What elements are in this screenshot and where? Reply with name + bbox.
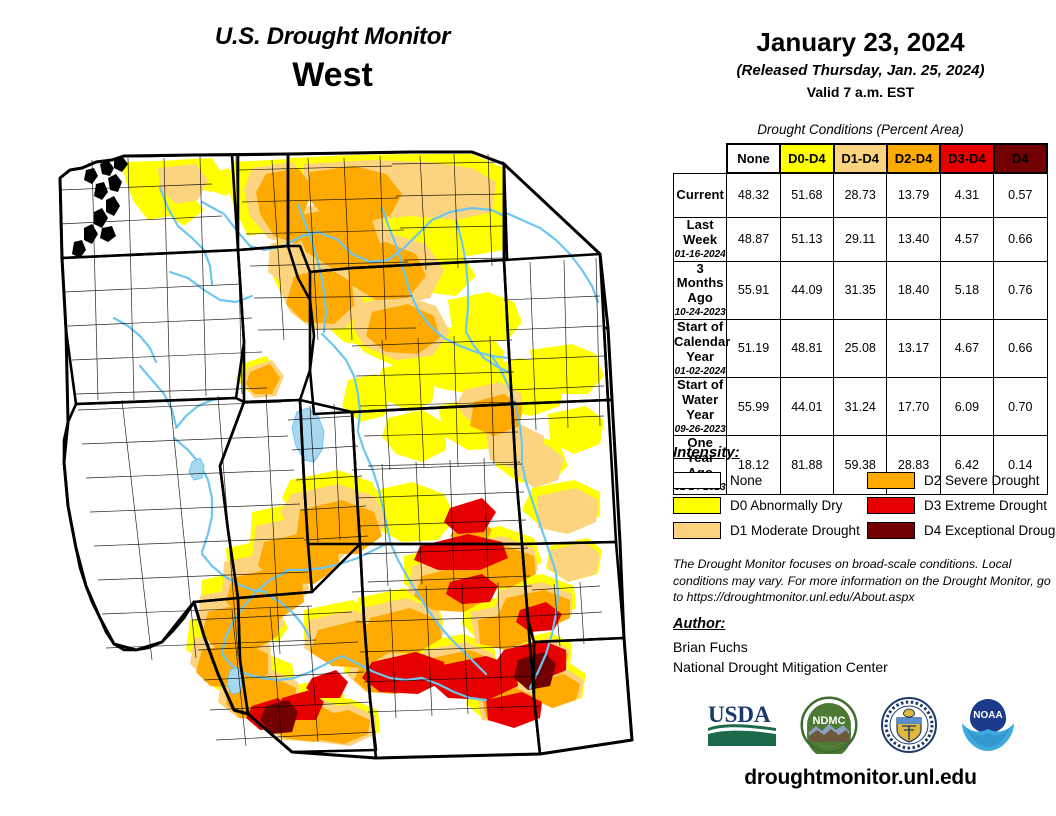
author-org: National Drought Mitigation Center [673,657,1053,677]
table-row: Start ofWater Year 09-26-2023 55.99 44.0… [674,378,1048,436]
table-header: None D0-D4 D1-D4 D2-D4 D3-D4 D4 [674,144,1048,173]
disclaimer-text: The Drought Monitor focuses on broad-sca… [673,556,1053,606]
cell-wateryear-d2d4: 17.70 [887,378,940,436]
cell-wateryear-d1d4: 31.24 [834,378,887,436]
legend-item-d0: D0 Abnormally Dry [673,493,859,518]
cell-current-d1d4: 28.73 [834,173,887,217]
cell-calyear-d4: 0.66 [994,319,1047,377]
legend-label-none: None [730,473,762,488]
cell-3months-d1d4: 31.35 [834,261,887,319]
legend-item-none: None [673,468,859,493]
row-label-text: Start ofCalendar Year [674,320,726,365]
cell-wateryear-d0d4: 44.01 [780,378,833,436]
column-header-d1d4: D1-D4 [834,144,887,173]
table-row: Start ofCalendar Year 01-02-2024 51.19 4… [674,319,1048,377]
drought-monitor-page: U.S. Drought Monitor West [0,0,1056,816]
usda-logo: USDA [706,700,778,750]
cell-3months-d3d4: 5.18 [940,261,993,319]
cell-wateryear-none: 55.99 [727,378,780,436]
cell-calyear-d3d4: 4.67 [940,319,993,377]
noaa-logo: NOAA [960,697,1016,753]
row-label-date: 01-16-2024 [674,249,726,261]
row-label-date: 01-02-2024 [674,366,726,378]
usda-seal-logo [880,696,938,754]
row-label-start-calendar-year: Start ofCalendar Year 01-02-2024 [674,319,727,377]
drought-map[interactable] [52,150,662,790]
author-name: Brian Fuchs [673,637,1053,657]
cell-lastweek-d2d4: 13.40 [887,217,940,261]
legend-item-d1: D1 Moderate Drought [673,518,859,543]
row-label-current: Current [674,173,727,217]
cell-calyear-d2d4: 13.17 [887,319,940,377]
swatch-d1-icon [673,522,721,539]
legend-label-d3: D3 Extreme Drought [924,498,1047,513]
cell-calyear-d0d4: 48.81 [780,319,833,377]
cell-3months-d4: 0.76 [994,261,1047,319]
swatch-d3-icon [867,497,915,514]
svg-text:USDA: USDA [708,702,771,727]
cell-lastweek-d0d4: 51.13 [780,217,833,261]
cell-calyear-none: 51.19 [727,319,780,377]
cell-lastweek-d4: 0.66 [994,217,1047,261]
row-label-3-months-ago: 3 Months Ago 10-24-2023 [674,261,727,319]
column-header-none: None [727,144,780,173]
column-header-d0d4: D0-D4 [780,144,833,173]
legend-item-d4: D4 Exceptional Drought [867,518,1053,543]
column-header-d3d4: D3-D4 [940,144,993,173]
cell-current-d0d4: 51.68 [780,173,833,217]
cell-lastweek-d3d4: 4.57 [940,217,993,261]
info-panel: January 23, 2024 (Released Thursday, Jan… [665,0,1056,816]
cell-current-d4: 0.57 [994,173,1047,217]
map-title-block: U.S. Drought Monitor West [0,24,665,97]
table-caption: Drought Conditions (Percent Area) [665,122,1056,137]
map-panel: U.S. Drought Monitor West [0,0,665,816]
cell-current-d3d4: 4.31 [940,173,993,217]
author-heading: Author: [673,616,725,632]
intensity-legend-title: Intensity: [673,444,740,461]
legend-label-d4: D4 Exceptional Drought [924,523,1056,538]
swatch-none-icon [673,472,721,489]
row-label-text: Start ofWater Year [674,378,726,423]
table-corner-cell [674,144,727,173]
row-label-date: 09-26-2023 [674,424,726,436]
author-block: Brian Fuchs National Drought Mitigation … [673,637,1053,678]
intensity-legend: None D2 Severe Drought D0 Abnormally Dry… [673,468,1053,543]
cell-wateryear-d4: 0.70 [994,378,1047,436]
table-row: Last Week 01-16-2024 48.87 51.13 29.11 1… [674,217,1048,261]
legend-item-d2: D2 Severe Drought [867,468,1053,493]
row-label-last-week: Last Week 01-16-2024 [674,217,727,261]
release-date: (Released Thursday, Jan. 25, 2024) [665,62,1056,79]
column-header-d2d4: D2-D4 [887,144,940,173]
logo-row: USDA NDMC [665,690,1056,760]
svg-text:NOAA: NOAA [973,710,1002,721]
table-row: 3 Months Ago 10-24-2023 55.91 44.09 31.3… [674,261,1048,319]
map-title-primary: U.S. Drought Monitor [0,24,665,50]
table-row: Current 48.32 51.68 28.73 13.79 4.31 0.5… [674,173,1048,217]
drought-conditions-table: None D0-D4 D1-D4 D2-D4 D3-D4 D4 Current … [673,143,1048,495]
legend-label-d2: D2 Severe Drought [924,473,1040,488]
legend-label-d0: D0 Abnormally Dry [730,498,843,513]
row-label-text: Current [674,188,726,203]
cell-3months-d2d4: 18.40 [887,261,940,319]
cell-wateryear-d3d4: 6.09 [940,378,993,436]
legend-item-d3: D3 Extreme Drought [867,493,1053,518]
cell-3months-none: 55.91 [727,261,780,319]
row-label-text: Last Week [674,218,726,248]
cell-lastweek-none: 48.87 [727,217,780,261]
cell-current-d2d4: 13.79 [887,173,940,217]
date-block: January 23, 2024 (Released Thursday, Jan… [665,28,1056,100]
cell-3months-d0d4: 44.09 [780,261,833,319]
cell-calyear-d1d4: 25.08 [834,319,887,377]
cell-current-none: 48.32 [727,173,780,217]
cell-lastweek-d1d4: 29.11 [834,217,887,261]
row-label-date: 10-24-2023 [674,307,726,319]
map-title-region: West [0,54,665,97]
report-date: January 23, 2024 [665,28,1056,58]
column-header-d4: D4 [994,144,1047,173]
ndmc-logo: NDMC [800,696,858,754]
legend-label-d1: D1 Moderate Drought [730,523,860,538]
row-label-text: 3 Months Ago [674,262,726,307]
row-label-start-water-year: Start ofWater Year 09-26-2023 [674,378,727,436]
site-url[interactable]: droughtmonitor.unl.edu [665,766,1056,790]
swatch-d0-icon [673,497,721,514]
swatch-d4-icon [867,522,915,539]
swatch-d2-icon [867,472,915,489]
svg-text:NDMC: NDMC [812,715,845,727]
valid-time: Valid 7 a.m. EST [665,84,1056,100]
table-header-row: None D0-D4 D1-D4 D2-D4 D3-D4 D4 [674,144,1048,173]
